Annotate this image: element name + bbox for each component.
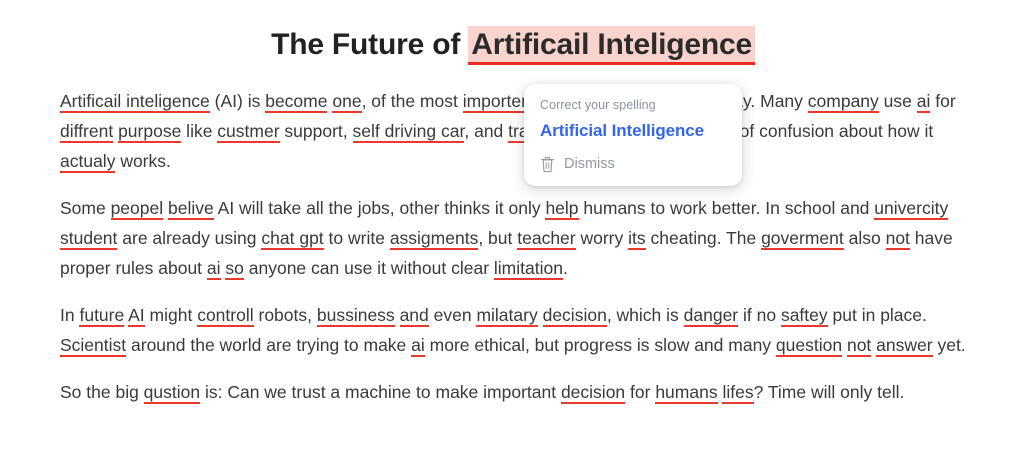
text-run: robots,	[254, 305, 317, 325]
text-run: also	[844, 228, 886, 248]
spelling-error[interactable]: become	[265, 91, 327, 113]
text-run: yet.	[933, 335, 966, 355]
text-run: use	[879, 91, 917, 111]
spelling-error[interactable]: controll	[197, 305, 253, 327]
spelling-error[interactable]: actualy	[60, 151, 115, 173]
paragraph-1: Artificail inteligence (AI) is become on…	[60, 86, 966, 176]
spelling-error[interactable]: goverment	[761, 228, 844, 250]
text-run: , and	[464, 121, 508, 141]
spelling-error[interactable]: qustion	[144, 382, 200, 404]
spelling-suggestion-popup: Correct your spelling Artificial Intelli…	[524, 84, 742, 186]
spelling-error[interactable]: question	[776, 335, 842, 357]
spelling-error[interactable]: belive	[168, 198, 214, 220]
spelling-error[interactable]: one	[332, 91, 361, 113]
text-run: might	[145, 305, 198, 325]
text-run: works.	[115, 151, 170, 171]
dismiss-label: Dismiss	[564, 155, 615, 173]
text-run: , which is	[607, 305, 684, 325]
page-title-prefix: The Future of	[271, 28, 468, 61]
text-run: if no	[738, 305, 781, 325]
spelling-error[interactable]: not	[886, 228, 910, 250]
spelling-error[interactable]: teacher	[517, 228, 575, 250]
text-run: even	[429, 305, 477, 325]
text-run: more ethical, but progress is slow and m…	[425, 335, 776, 355]
text-run: to write	[324, 228, 390, 248]
spelling-error[interactable]: peopel	[111, 198, 164, 220]
paragraph-2: Some peopel belive AI will take all the …	[60, 193, 966, 283]
spelling-error[interactable]: Scientist	[60, 335, 126, 357]
popup-label: Correct your spelling	[540, 96, 726, 114]
text-run: are already using	[117, 228, 261, 248]
spelling-error[interactable]: univercity	[874, 198, 948, 220]
page-title: The Future of Artificail Inteligence	[60, 26, 966, 64]
text-run: worry	[576, 228, 629, 248]
text-run: is: Can we trust a machine to make impor…	[200, 382, 561, 402]
dismiss-button[interactable]: Dismiss	[540, 155, 726, 173]
text-run: cheating. The	[646, 228, 761, 248]
spelling-error[interactable]: ai	[411, 335, 425, 357]
spelling-error[interactable]: its	[628, 228, 646, 250]
text-run: support,	[280, 121, 353, 141]
spelling-error[interactable]: lifes	[722, 382, 753, 404]
spelling-error[interactable]: chat gpt	[261, 228, 323, 250]
text-run: put in place.	[828, 305, 927, 325]
spelling-error[interactable]: answer	[876, 335, 932, 357]
text-run: humans to work better. In school and	[579, 198, 875, 218]
text-run: So the big	[60, 382, 144, 402]
text-run: of confusion about how it	[735, 121, 933, 141]
text-run	[538, 305, 543, 325]
spelling-error[interactable]: limitation	[494, 258, 563, 280]
text-run: , of the most	[362, 91, 463, 111]
text-run: , but	[478, 228, 517, 248]
spelling-error[interactable]: and	[400, 305, 429, 327]
spelling-error[interactable]: decision	[543, 305, 607, 327]
spelling-error[interactable]: future	[79, 305, 124, 327]
spelling-error[interactable]: danger	[684, 305, 739, 327]
paragraph-3: In future AI might controll robots, buss…	[60, 300, 966, 360]
spelling-error[interactable]: student	[60, 228, 117, 250]
spelling-error[interactable]: saftey	[781, 305, 828, 327]
text-run: for	[625, 382, 655, 402]
spelling-error[interactable]: bussiness	[317, 305, 395, 327]
spelling-error[interactable]: assigments	[390, 228, 479, 250]
text-run: around the world are trying to make	[126, 335, 411, 355]
spelling-error[interactable]: milatary	[476, 305, 537, 327]
text-run: for	[930, 91, 955, 111]
suggestion-option[interactable]: Artificial Intelligence	[540, 118, 726, 144]
spelling-error[interactable]: not	[847, 335, 871, 357]
spelling-error[interactable]: diffrent	[60, 121, 113, 143]
spelling-error[interactable]: AI	[128, 305, 145, 327]
spelling-error[interactable]: self driving car	[353, 121, 465, 143]
text-run: AI will take all the jobs, other thinks …	[214, 198, 546, 218]
text-run	[395, 305, 400, 325]
paragraph-4: So the big qustion is: Can we trust a ma…	[60, 377, 966, 407]
spelling-error[interactable]: custmer	[217, 121, 279, 143]
text-run: In	[60, 305, 79, 325]
text-run: .	[563, 258, 568, 278]
spelling-error[interactable]: ai	[917, 91, 931, 113]
document-canvas: The Future of Artificail Inteligence Art…	[0, 0, 1024, 454]
text-run: like	[181, 121, 217, 141]
trash-icon	[540, 156, 555, 173]
spelling-error[interactable]: company	[808, 91, 879, 113]
spelling-error[interactable]: help	[545, 198, 578, 220]
spelling-error[interactable]: decision	[561, 382, 625, 404]
spelling-error[interactable]: so	[225, 258, 243, 280]
text-run: Some	[60, 198, 111, 218]
spelling-error[interactable]: purpose	[118, 121, 181, 143]
text-run: (AI) is	[210, 91, 265, 111]
page-title-misspelling[interactable]: Artificail Inteligence	[468, 26, 755, 65]
text-run: anyone can use it without clear	[244, 258, 494, 278]
spelling-error[interactable]: humans	[655, 382, 717, 404]
spelling-error[interactable]: ai	[207, 258, 221, 280]
text-run: ? Time will only tell.	[754, 382, 905, 402]
spelling-error[interactable]: Artificail inteligence	[60, 91, 210, 113]
